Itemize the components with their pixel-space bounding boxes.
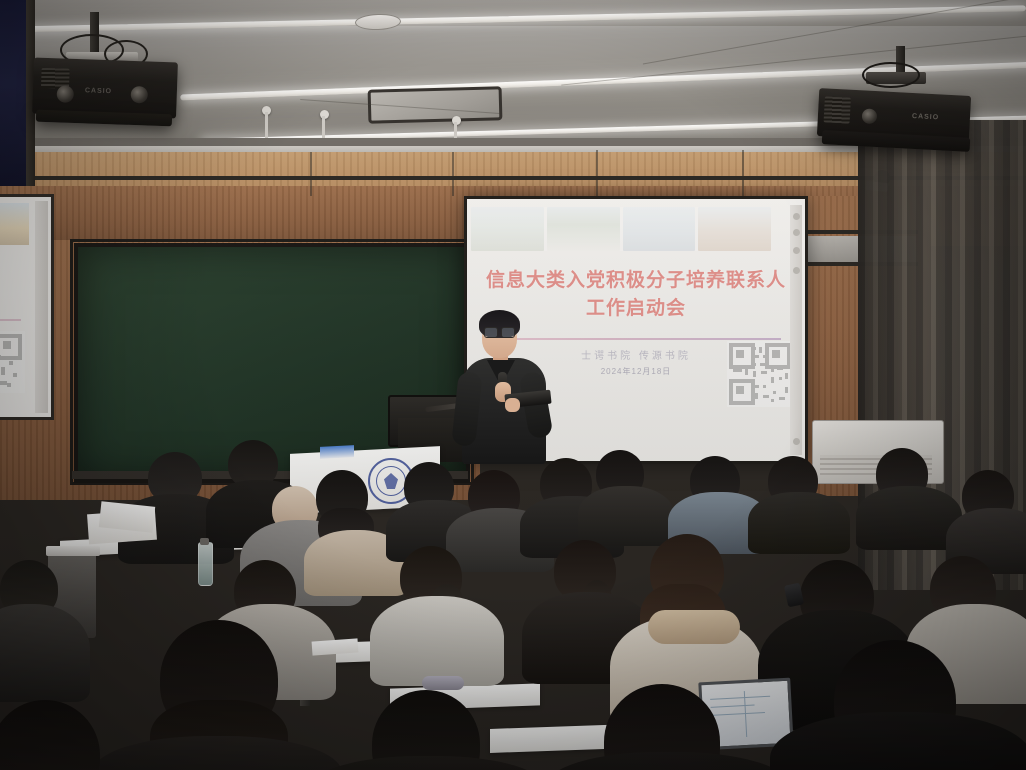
wall-panel-seam	[452, 152, 454, 196]
audience-head-foreground	[0, 700, 100, 770]
projector-vent	[824, 96, 851, 123]
qr-code-icon	[0, 331, 25, 393]
audience-shoulders-dark	[310, 756, 546, 770]
projector-lens-icon	[130, 86, 148, 104]
wall-panel-seam	[596, 150, 598, 196]
trash-bin-lid	[46, 546, 100, 556]
emblem-mark	[384, 473, 398, 489]
slide-title-line-1: 信息大类入党积极分子培养联系人	[486, 270, 786, 291]
water-bottle	[198, 542, 213, 586]
audience-shoulders	[578, 486, 674, 546]
qr-eye	[0, 334, 22, 360]
audience-shoulders	[0, 604, 90, 702]
fur-hood-collar	[648, 610, 740, 644]
glasses-case	[422, 676, 464, 690]
audience-shoulders-dark	[92, 736, 342, 770]
papers-on-desk	[99, 501, 155, 533]
photo-fade-overlay	[471, 207, 771, 251]
audience-shoulders-light	[370, 596, 504, 686]
projector-lens-icon	[862, 108, 878, 124]
slide-header-photo-strip	[471, 207, 771, 251]
qr-eye	[729, 379, 755, 405]
screen-control-dot[interactable]	[793, 213, 800, 220]
qr-code-icon	[727, 341, 793, 407]
wall-display-dark	[0, 0, 29, 186]
projector-lens-icon	[56, 85, 74, 103]
projection-screen-left: 系人	[0, 194, 54, 420]
lecture-hall-screenshot: 系人	[0, 0, 1026, 770]
audience-shoulders	[748, 492, 850, 554]
slide-divider	[0, 319, 21, 321]
wall-panel-seam	[310, 152, 312, 196]
screen-control-dot[interactable]	[793, 247, 800, 254]
slide-header-photo	[0, 203, 29, 245]
slide-title: 信息大类入党积极分子培养联系人 工作启动会	[467, 267, 805, 322]
audience-shoulders-dark	[546, 752, 790, 770]
screen-control-dot[interactable]	[793, 229, 800, 236]
blue-item-on-desk	[320, 445, 354, 459]
screen-control-dot[interactable]	[793, 267, 800, 274]
screen-control-dot[interactable]	[793, 438, 800, 445]
glasses-icon	[484, 327, 515, 336]
qr-eye	[729, 343, 755, 369]
slide-divider	[491, 338, 781, 340]
screen-side-rail	[35, 201, 48, 413]
qr-eye	[765, 343, 791, 369]
wall-panel-seam	[742, 150, 744, 196]
screen-side-rail	[790, 205, 802, 455]
bottle-cap	[200, 538, 209, 545]
projector-cable	[862, 62, 920, 88]
presenter-hand-right	[505, 398, 520, 412]
